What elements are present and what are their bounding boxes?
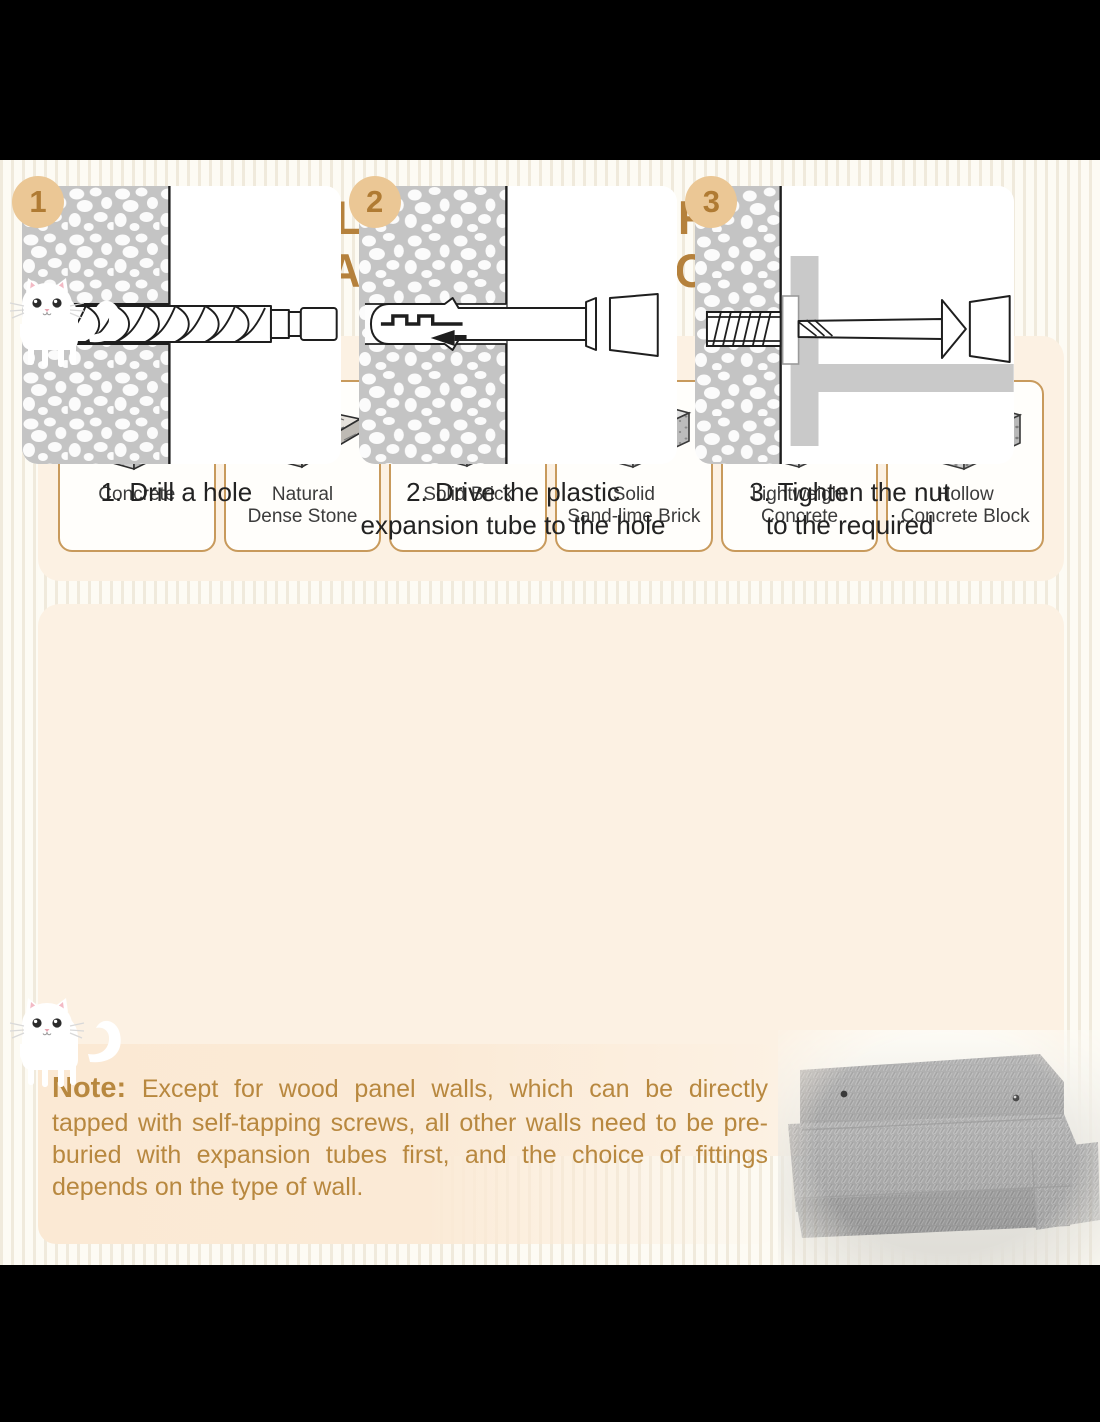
note-text: Note: Except for wood panel walls, which…	[52, 1070, 768, 1203]
step-number-badge: 3	[685, 176, 737, 228]
step-caption: 3. Tighten the nut to the required	[685, 476, 1014, 542]
step-caption: 1. Drill a hole	[12, 476, 341, 509]
installation-step-2: 2 2. Drive the plastic expansion tube to…	[349, 176, 678, 616]
installation-step-3: 3 3. Tighten the nut to the required	[685, 176, 1014, 616]
plastic-expansion-tube-hammer	[359, 186, 678, 464]
installation-steps-list: 1 1. Drill a hole	[12, 176, 1014, 616]
gray-plush-cat-shelf-photo	[778, 1030, 1100, 1265]
note-body: Except for wood panel walls, which can b…	[52, 1075, 768, 1201]
installation-step-1: 1 1. Drill a hole	[12, 176, 341, 616]
step-caption: 2. Drive the plastic expansion tube to t…	[349, 476, 678, 542]
page-sheet: INSTALLATION REQUIREMENTS AND INSTRUCTIO…	[0, 160, 1100, 1265]
step-number-badge: 2	[349, 176, 401, 228]
step-number-badge: 1	[12, 176, 64, 228]
screw-tightened-with-bracket	[695, 186, 1014, 464]
white-cat-illustration-bottom	[8, 998, 140, 1099]
installation-instructions-page: INSTALLATION REQUIREMENTS AND INSTRUCTIO…	[0, 0, 1100, 1422]
white-cat-illustration-top	[8, 278, 140, 379]
